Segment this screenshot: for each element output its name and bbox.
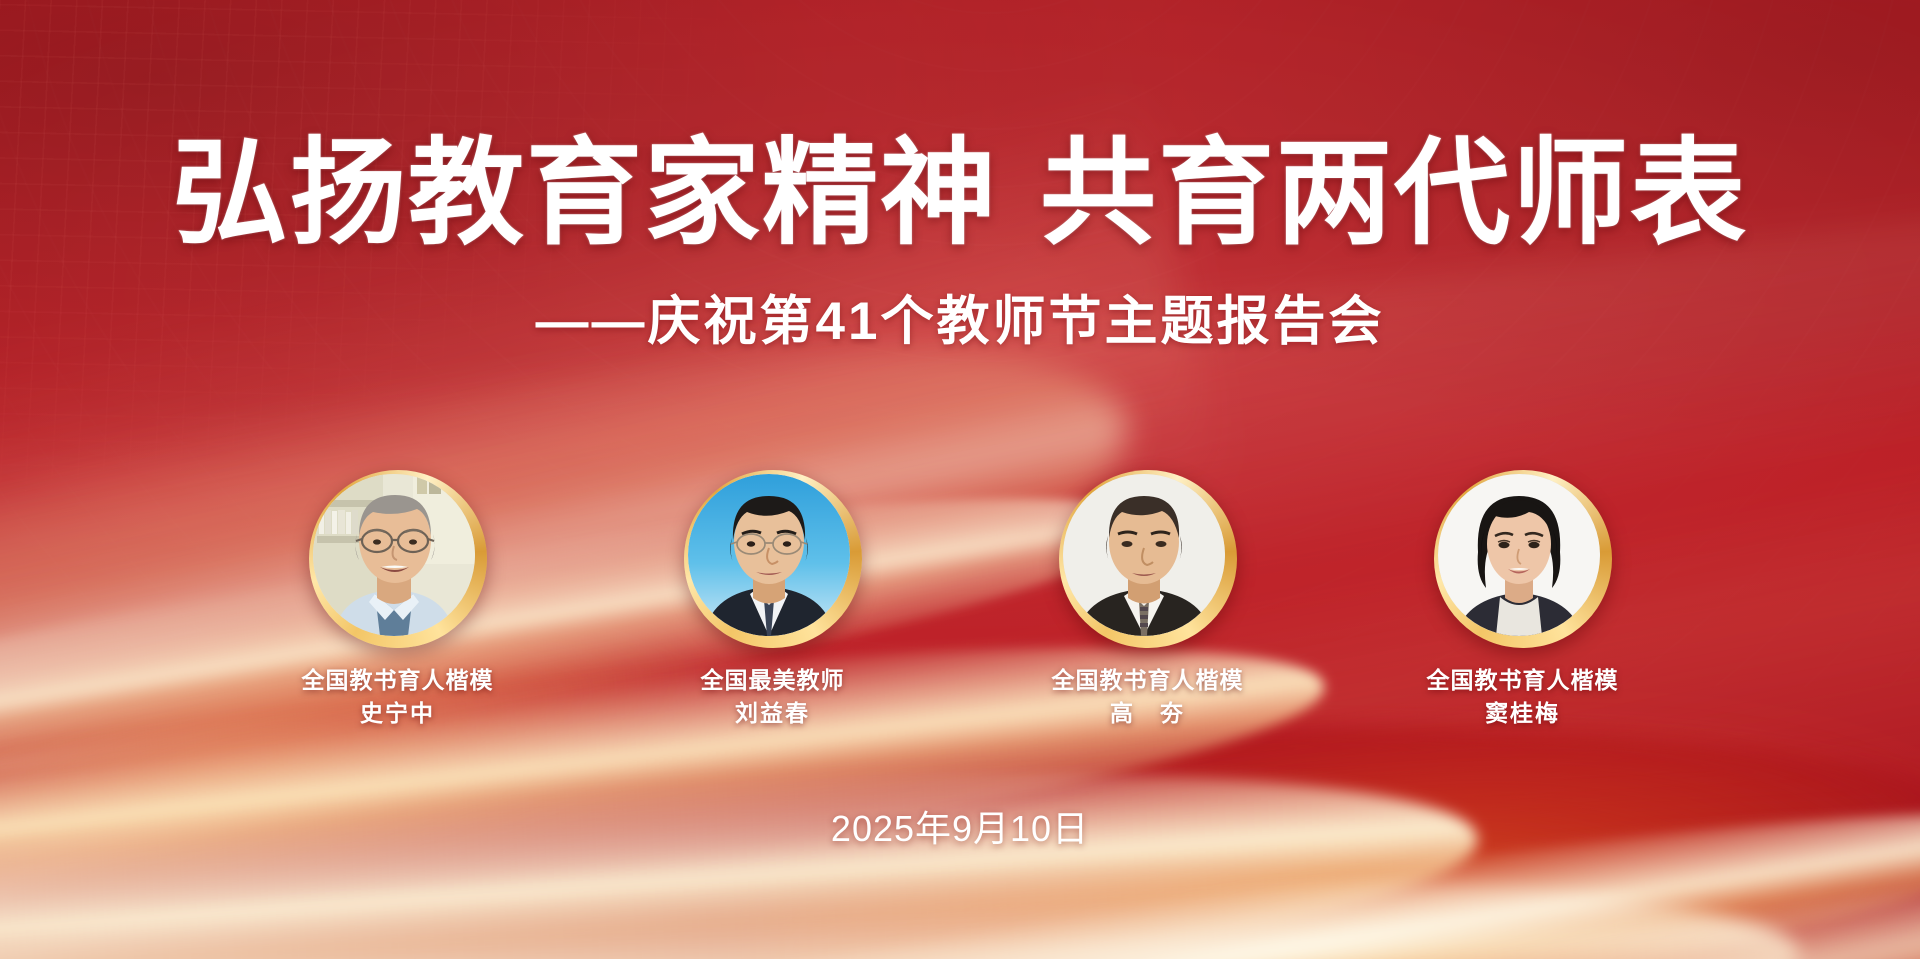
honoree-name: 高 夯 — [1035, 697, 1260, 730]
poster-canvas: 弘扬教育家精神共育两代师表 ——庆祝第41个教师节主题报告会 — [0, 0, 1920, 959]
portrait-liu-yichun-icon — [688, 474, 850, 636]
subtitle: ——庆祝第41个教师节主题报告会 — [0, 279, 1920, 355]
avatar — [688, 474, 850, 636]
avatar — [1063, 474, 1225, 636]
honoree-caption: 全国教书育人楷模 窦桂梅 — [1410, 664, 1635, 729]
honoree-name: 窦桂梅 — [1410, 697, 1635, 730]
avatar-gold-ring — [309, 470, 487, 648]
honoree-caption: 全国教书育人楷模 史宁中 — [285, 664, 510, 729]
honoree-card[interactable]: 全国教书育人楷模 窦桂梅 — [1410, 470, 1635, 729]
honoree-honor: 全国教书育人楷模 — [1410, 664, 1635, 697]
portrait-dou-guimei-icon — [1438, 474, 1600, 636]
main-title-part-1: 弘扬教育家精神 — [172, 125, 998, 261]
honoree-honor: 全国教书育人楷模 — [1035, 664, 1260, 697]
honoree-card[interactable]: 全国教书育人楷模 高 夯 — [1035, 470, 1260, 729]
honoree-name: 刘益春 — [660, 697, 885, 730]
main-title-part-2: 共育两代师表 — [1040, 125, 1748, 261]
main-title: 弘扬教育家精神共育两代师表 — [0, 132, 1920, 255]
honoree-name: 史宁中 — [285, 697, 510, 730]
honoree-card[interactable]: 全国教书育人楷模 史宁中 — [285, 470, 510, 729]
honoree-honor: 全国最美教师 — [660, 664, 885, 697]
honoree-honor: 全国教书育人楷模 — [285, 664, 510, 697]
avatar-gold-ring — [1434, 470, 1612, 648]
honoree-card[interactable]: 全国最美教师 刘益春 — [660, 470, 885, 729]
honoree-caption: 全国最美教师 刘益春 — [660, 664, 885, 729]
event-date: 2025年9月10日 — [0, 800, 1920, 852]
avatar-gold-ring — [1059, 470, 1237, 648]
avatar-gold-ring — [684, 470, 862, 648]
avatar — [1438, 474, 1600, 636]
portrait-gao-hang-icon — [1063, 474, 1225, 636]
title-block: 弘扬教育家精神共育两代师表 ——庆祝第41个教师节主题报告会 — [0, 132, 1920, 355]
honoree-row: 全国教书育人楷模 史宁中 — [0, 470, 1920, 729]
avatar — [313, 474, 475, 636]
portrait-shining-zhong-icon — [313, 474, 475, 636]
honoree-caption: 全国教书育人楷模 高 夯 — [1035, 664, 1260, 729]
